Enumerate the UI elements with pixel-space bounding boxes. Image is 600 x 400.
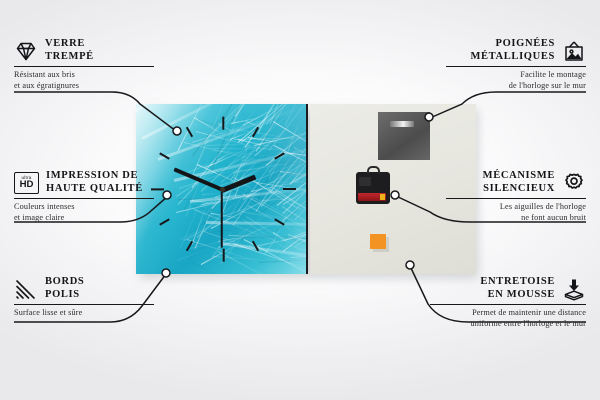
- clock-tick: [283, 188, 296, 190]
- feature-rule: [430, 304, 586, 305]
- feature-verre-trempe: VERRE TREMPÉ Résistant aux bris et aux é…: [14, 38, 154, 91]
- battery: [358, 193, 386, 201]
- feature-desc-line2: et aux égratignures: [14, 81, 79, 90]
- feature-desc-line2: de l'horloge sur le mur: [509, 81, 586, 90]
- feature-desc-line1: Facilite le montage: [520, 70, 586, 79]
- feature-description: Permet de maintenir une distance uniform…: [430, 308, 586, 329]
- feature-desc-line2: et image claire: [14, 213, 64, 222]
- feature-title-line1: VERRE: [45, 38, 85, 49]
- feature-desc-line1: Résistant aux bris: [14, 70, 75, 79]
- foam-spacer: [370, 234, 386, 249]
- feature-title-line1: ENTRETOISE: [480, 276, 555, 287]
- diamond-icon: [14, 39, 38, 63]
- feature-title-line2: TREMPÉ: [45, 51, 94, 62]
- feature-title-line2: EN MOUSSE: [488, 289, 555, 300]
- feature-description: Couleurs intenses et image claire: [14, 202, 154, 223]
- feature-title-line1: MÉCANISME: [483, 170, 555, 181]
- feature-desc-line1: Surface lisse et sûre: [14, 308, 82, 317]
- feature-desc-line2: uniforme entre l'horloge et le mur: [471, 319, 586, 328]
- gear-icon: [562, 171, 586, 195]
- quartz-mechanism: [356, 172, 390, 204]
- feature-desc-line1: Couleurs intenses: [14, 202, 75, 211]
- feature-title-line2: POLIS: [45, 289, 80, 300]
- feature-description: Surface lisse et sûre: [14, 308, 154, 318]
- feature-title-line2: MÉTALLIQUES: [470, 51, 555, 62]
- feature-poignees-metalliques: POIGNÉES MÉTALLIQUES Facilite le montage…: [446, 38, 586, 91]
- feature-desc-line2: ne font aucun bruit: [521, 213, 586, 222]
- feature-title-line2: SILENCIEUX: [483, 183, 555, 194]
- feature-title-line2: HAUTE QUALITÉ: [46, 183, 143, 194]
- clock-tick: [222, 249, 224, 262]
- feature-title-line1: BORDS: [45, 276, 84, 287]
- metal-hanger-plate: [378, 112, 430, 160]
- feature-description: Résistant aux bris et aux égratignures: [14, 70, 154, 91]
- ultra-hd-badge-icon: ultra HD: [14, 172, 39, 194]
- feature-rule: [14, 66, 154, 67]
- feature-title-line1: POIGNÉES: [496, 38, 555, 49]
- clock-hand-hub: [220, 187, 225, 192]
- feature-rule: [14, 198, 154, 199]
- mechanism-hook: [367, 166, 380, 174]
- second-hand: [221, 190, 223, 248]
- feature-rule: [446, 198, 586, 199]
- feature-title-line1: IMPRESSION DE: [46, 170, 138, 181]
- hanging-frame-icon: [562, 39, 586, 63]
- diagonal-hatch-icon: [14, 277, 38, 301]
- clock-glass-face: [136, 104, 308, 274]
- feature-rule: [446, 66, 586, 67]
- feature-desc-line1: Les aiguilles de l'horloge: [500, 202, 586, 211]
- feature-impression-haute-qualite: ultra HD IMPRESSION DE HAUTE QUALITÉ Cou…: [14, 170, 154, 223]
- feature-entretoise-en-mousse: ENTRETOISE EN MOUSSE Permet de maintenir…: [430, 276, 586, 329]
- feature-bords-polis: BORDS POLIS Surface lisse et sûre: [14, 276, 154, 319]
- mechanism-slot: [359, 177, 371, 186]
- feature-description: Les aiguilles de l'horloge ne font aucun…: [446, 202, 586, 223]
- feature-desc-line1: Permet de maintenir une distance: [472, 308, 586, 317]
- arrow-onto-pad-icon: [562, 277, 586, 301]
- feature-mecanisme-silencieux: MÉCANISME SILENCIEUX Les aiguilles de l'…: [446, 170, 586, 223]
- feature-description: Facilite le montage de l'horloge sur le …: [446, 70, 586, 91]
- feature-rule: [14, 304, 154, 305]
- infographic-canvas: VERRE TREMPÉ Résistant aux bris et aux é…: [0, 0, 600, 400]
- ultra-hd-main-text: HD: [20, 180, 34, 190]
- product-photo: [136, 104, 476, 274]
- clock-tick: [222, 117, 224, 130]
